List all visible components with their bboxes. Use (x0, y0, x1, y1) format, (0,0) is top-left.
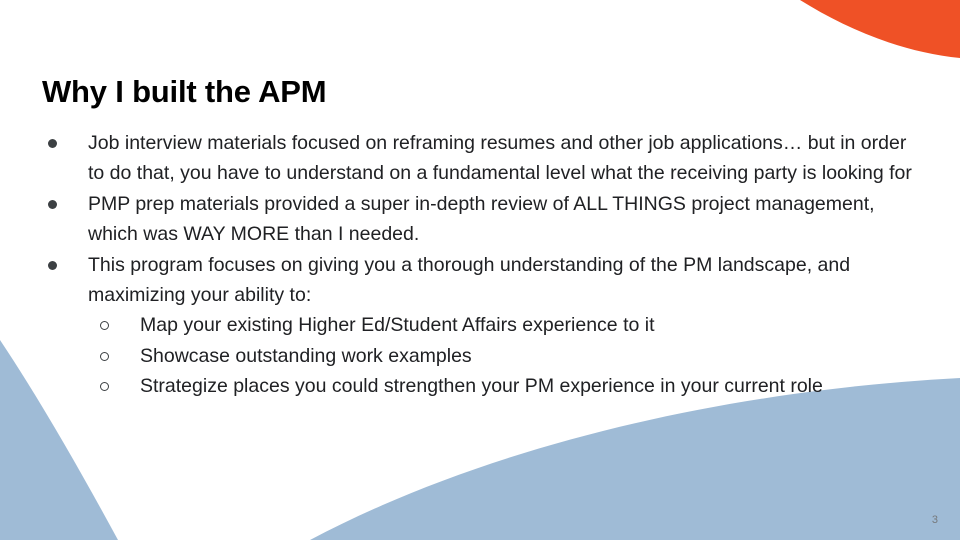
bullet-circle-icon (96, 341, 140, 361)
list-item: PMP prep materials provided a super in-d… (44, 189, 934, 250)
list-item: Map your existing Higher Ed/Student Affa… (44, 310, 934, 340)
bullet-circle-icon (96, 310, 140, 330)
page-number: 3 (932, 515, 938, 526)
slide-canvas: Why I built the APM Job interview materi… (0, 0, 960, 540)
list-item-text: Map your existing Higher Ed/Student Affa… (140, 310, 910, 340)
blue-bottom-shape (310, 378, 960, 540)
bullet-disc-icon (44, 189, 88, 209)
list-item-text: Strategize places you could strengthen y… (140, 371, 910, 401)
list-item-text: Showcase outstanding work examples (140, 341, 910, 371)
bullet-disc-icon (44, 128, 88, 148)
list-item-text: Job interview materials focused on refra… (88, 128, 926, 189)
bullet-disc-icon (44, 250, 88, 270)
list-item: Showcase outstanding work examples (44, 341, 934, 371)
bullet-circle-icon (96, 371, 140, 391)
bullet-list: Job interview materials focused on refra… (44, 128, 934, 402)
page-title: Why I built the APM (42, 73, 326, 110)
list-item: Job interview materials focused on refra… (44, 128, 934, 189)
orange-corner-shape (800, 0, 960, 58)
list-item: Strategize places you could strengthen y… (44, 371, 934, 401)
list-item: This program focuses on giving you a tho… (44, 250, 934, 311)
list-item-text: PMP prep materials provided a super in-d… (88, 189, 926, 250)
list-item-text: This program focuses on giving you a tho… (88, 250, 926, 311)
